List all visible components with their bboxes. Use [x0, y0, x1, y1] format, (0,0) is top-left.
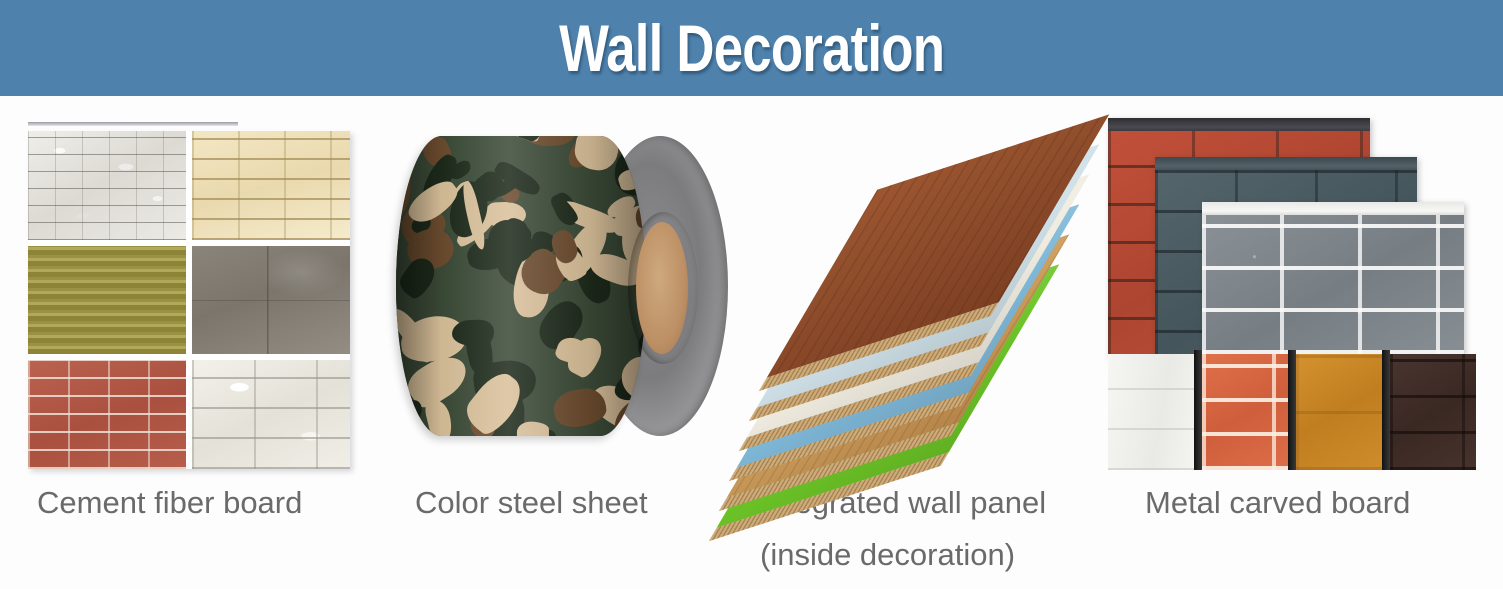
- coil-shading: [396, 136, 646, 436]
- coil-camo-body: [396, 136, 646, 436]
- sample-strip-white: [1108, 354, 1194, 470]
- product-image-cement-fiber-board[interactable]: [28, 122, 350, 470]
- texture-tile-white-block: [192, 360, 350, 469]
- board-cap-slate: [1155, 157, 1417, 170]
- sample-divider-3: [1382, 350, 1390, 470]
- texture-tile-grey-slate: [192, 246, 350, 355]
- sample-strip-orange: [1202, 354, 1288, 470]
- texture-tile-red-brick: [28, 360, 186, 469]
- texture-tile-grey-stone: [28, 131, 186, 240]
- coil-core-inner: [636, 222, 688, 354]
- divider-line: [28, 122, 238, 126]
- texture-tile-cream-brick: [192, 131, 350, 240]
- caption-color-steel-sheet: Color steel sheet: [415, 481, 648, 525]
- board-cap-light: [1202, 202, 1464, 215]
- product-strip: Cement fiber board Color steel sheet Int…: [0, 96, 1503, 589]
- sample-strip-brown: [1390, 354, 1476, 470]
- board-face-grey-stone: [1202, 215, 1464, 354]
- sample-divider-1: [1194, 350, 1202, 470]
- caption-cement-fiber-board: Cement fiber board: [37, 481, 302, 525]
- carved-board-grey-stone: [1202, 202, 1464, 354]
- sample-divider-2: [1288, 350, 1296, 470]
- product-image-metal-carved-board[interactable]: [1108, 110, 1466, 470]
- caption-integrated-wall-panel-sub: (inside decoration): [760, 533, 1015, 577]
- product-image-color-steel-sheet[interactable]: [396, 126, 746, 456]
- product-image-integrated-wall-panel[interactable]: [770, 156, 1080, 456]
- board-cap-dark: [1108, 118, 1370, 131]
- texture-tile-olive-stripe: [28, 246, 186, 355]
- wall-panel-stack: [770, 156, 1080, 456]
- caption-metal-carved-board: Metal carved board: [1145, 481, 1410, 525]
- page-title: Wall Decoration: [559, 15, 944, 81]
- sample-strip-amber: [1296, 354, 1382, 470]
- page-banner: Wall Decoration: [0, 0, 1503, 96]
- texture-sample-grid: [28, 131, 350, 469]
